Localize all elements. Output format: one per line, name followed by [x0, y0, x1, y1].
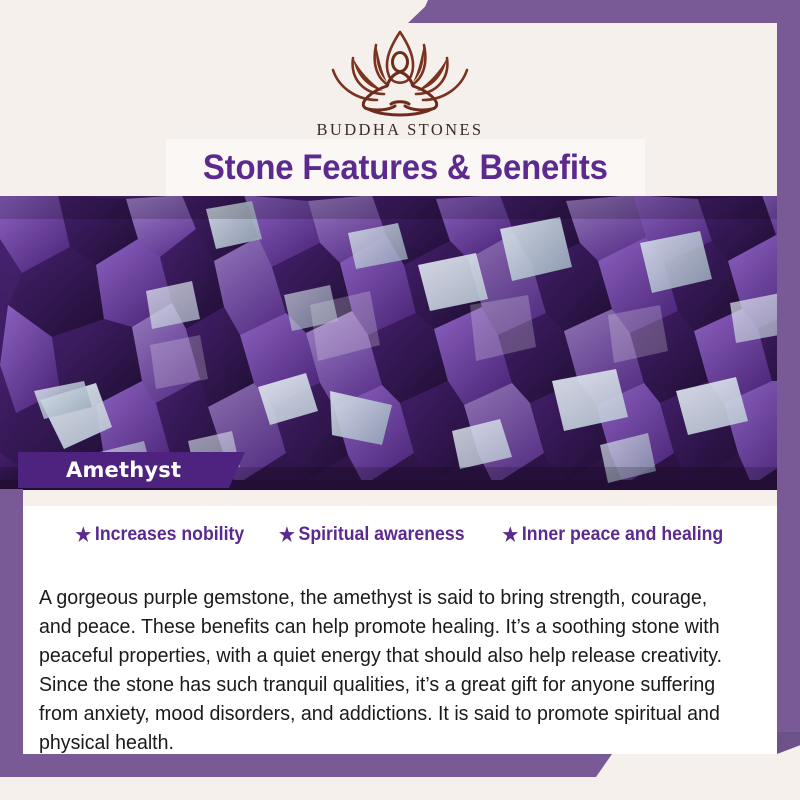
amethyst-photo	[0, 195, 800, 490]
header-section: BUDDHA STONES Stone Features & Benefits	[0, 0, 800, 196]
frame-top-right-band	[418, 0, 800, 23]
frame-right-strip	[777, 12, 800, 744]
stone-description: A gorgeous purple gemstone, the amethyst…	[39, 583, 736, 757]
lotus-buddha-meditation-icon	[315, 22, 485, 118]
frame-bottom-band	[0, 754, 612, 777]
brand-name: BUDDHA STONES	[0, 120, 800, 140]
benefit-label-1: Increases nobility	[95, 524, 244, 546]
star-icon: ★	[279, 526, 295, 545]
page-title-plate: Stone Features & Benefits	[166, 139, 645, 196]
benefits-list: ★ Increases nobility ★ Spiritual awarene…	[23, 524, 777, 546]
benefit-item-3: ★ Inner peace and healing	[502, 524, 723, 546]
benefit-item-1: ★ Increases nobility	[75, 524, 244, 546]
amethyst-crystal-cluster-illustration	[0, 195, 800, 490]
footer-spacer	[0, 777, 800, 800]
body-card: ★ Increases nobility ★ Spiritual awarene…	[23, 506, 777, 754]
stone-name: Amethyst	[66, 458, 181, 482]
infographic-page: BUDDHA STONES Stone Features & Benefits	[0, 0, 800, 800]
benefit-label-3: Inner peace and healing	[522, 524, 723, 546]
body-section: ★ Increases nobility ★ Spiritual awarene…	[0, 490, 800, 754]
star-icon: ★	[502, 526, 518, 545]
benefit-item-2: ★ Spiritual awareness	[279, 524, 465, 546]
star-icon: ★	[75, 526, 91, 545]
frame-left-strip	[0, 489, 23, 777]
benefit-label-2: Spiritual awareness	[299, 524, 465, 546]
brand-logo: BUDDHA STONES	[0, 22, 800, 140]
page-title: Stone Features & Benefits	[203, 148, 608, 188]
stone-name-banner: Amethyst	[18, 452, 245, 488]
